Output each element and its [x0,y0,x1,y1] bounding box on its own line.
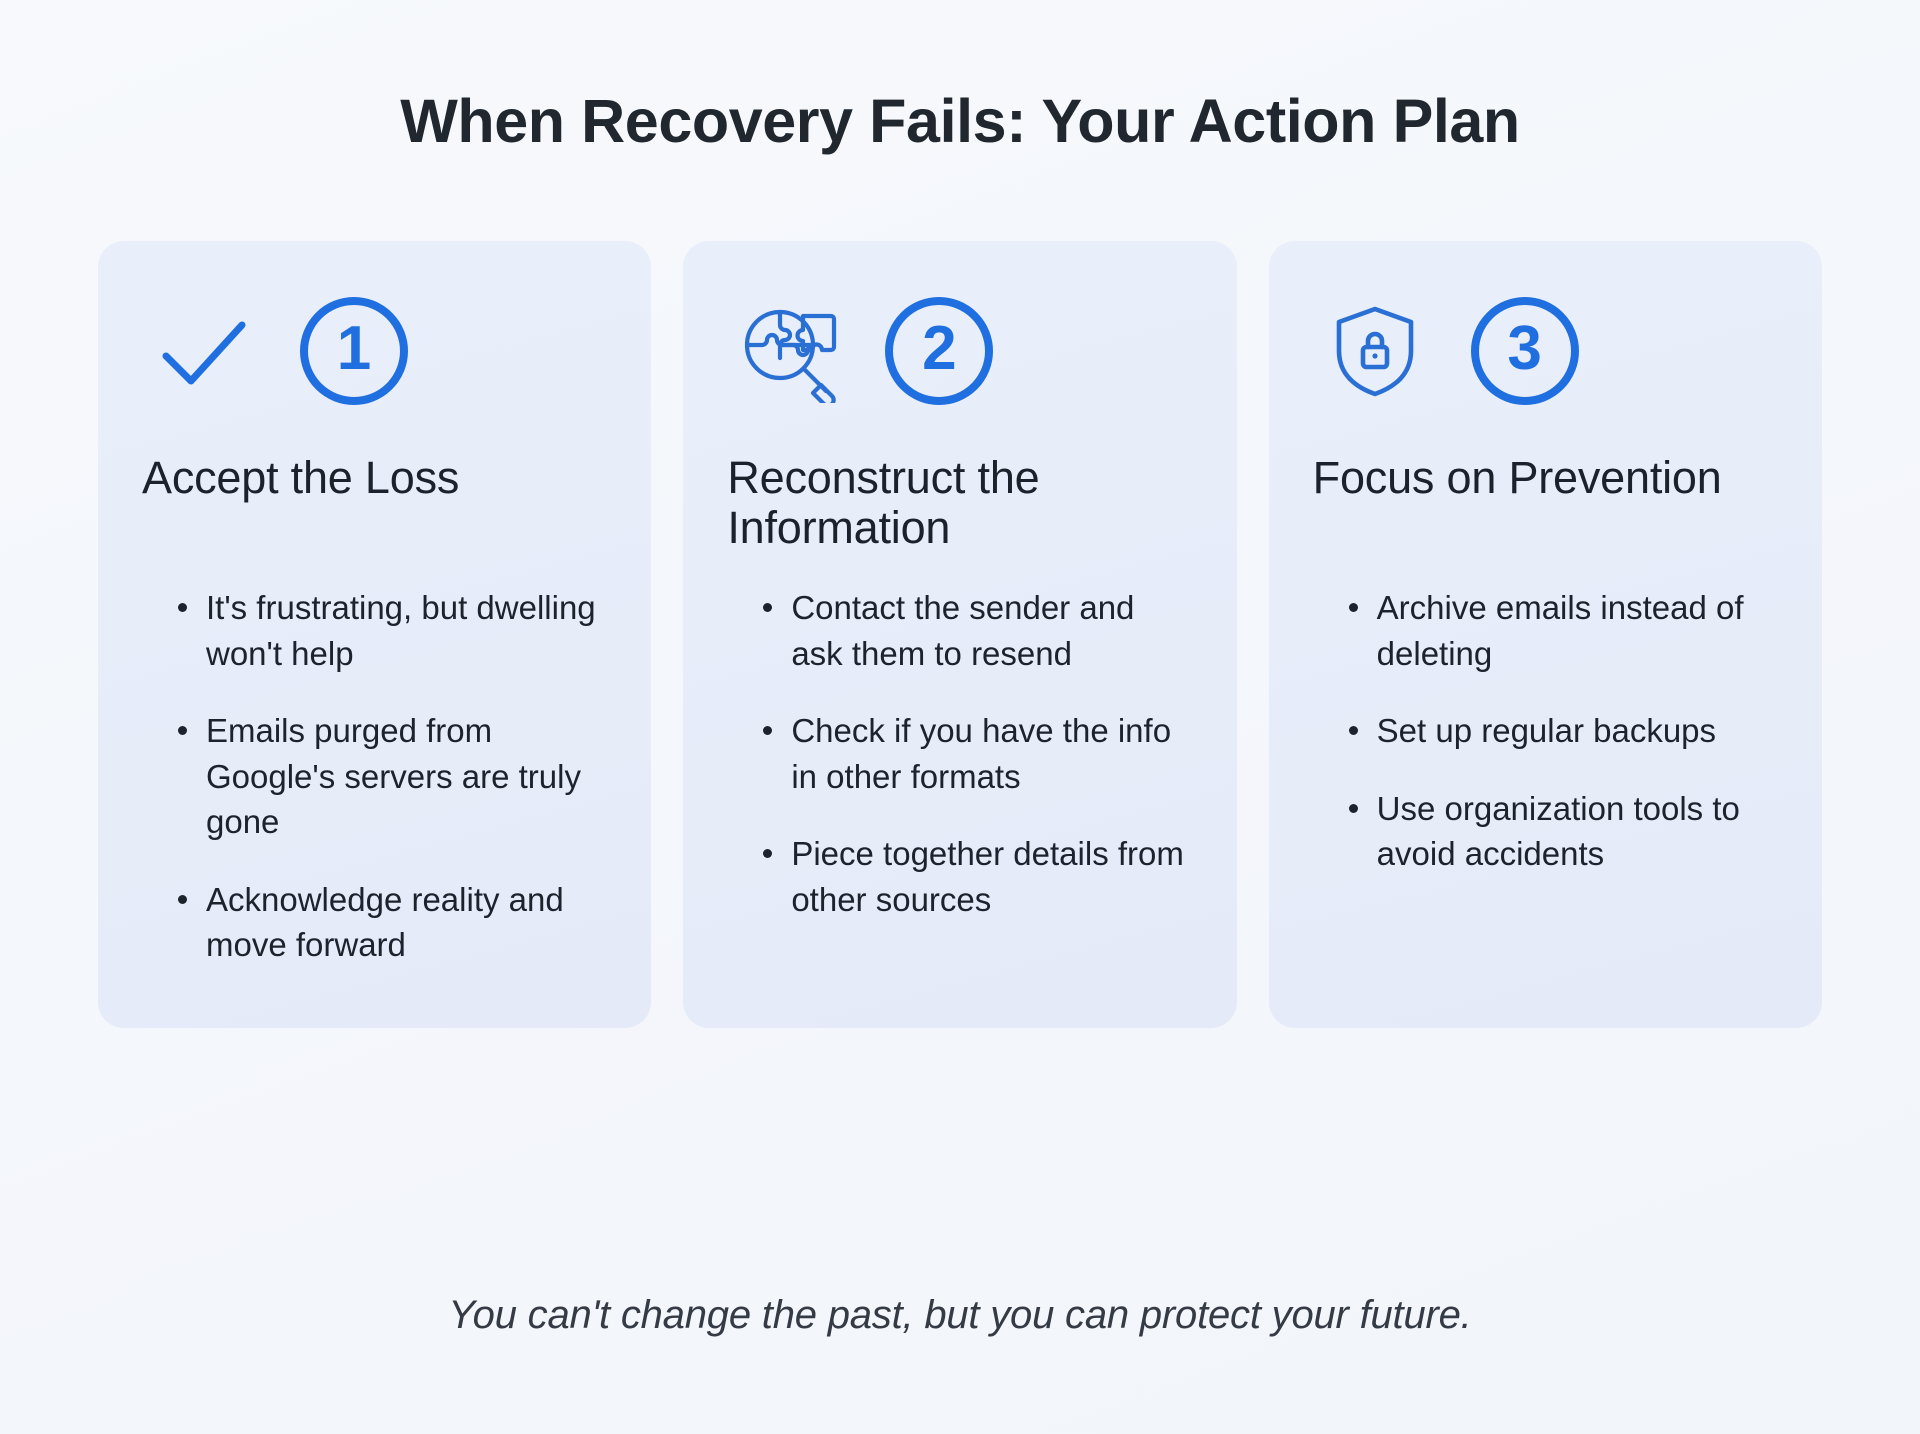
list-item: Emails purged from Google's servers are … [178,708,607,845]
list-item: Archive emails instead of deleting [1349,585,1778,676]
list-item: Acknowledge reality and move forward [178,877,607,968]
list-item: Set up regular backups [1349,708,1778,754]
step-number-badge: 1 [300,297,408,405]
card-bullet-list: It's frustrating, but dwelling won't hel… [142,585,607,968]
list-item: Piece together details from other source… [763,831,1192,922]
card-header: 1 [142,293,607,409]
card-bullet-list: Contact the sender and ask them to resen… [727,585,1192,922]
card-heading: Accept the Loss [142,453,607,555]
list-item: Use organization tools to avoid accident… [1349,786,1778,877]
footer-quote: You can't change the past, but you can p… [0,1293,1920,1338]
shield-lock-icon [1323,299,1427,403]
card-header: 2 [727,293,1192,409]
card-heading: Focus on Prevention [1313,453,1778,555]
step-number-badge: 2 [885,297,993,405]
infographic-page: When Recovery Fails: Your Action Plan 1 … [0,0,1920,1434]
step-number-badge: 3 [1471,297,1579,405]
puzzle-magnifier-icon [737,299,841,403]
card-focus-on-prevention: 3 Focus on Prevention Archive emails ins… [1269,241,1822,1028]
card-accept-the-loss: 1 Accept the Loss It's frustrating, but … [98,241,651,1028]
card-reconstruct-the-information: 2 Reconstruct the Information Contact th… [683,241,1236,1028]
list-item: It's frustrating, but dwelling won't hel… [178,585,607,676]
page-title: When Recovery Fails: Your Action Plan [0,0,1920,155]
card-header: 3 [1313,293,1778,409]
list-item: Check if you have the info in other form… [763,708,1192,799]
checkmark-icon [152,299,256,403]
card-bullet-list: Archive emails instead of deleting Set u… [1313,585,1778,877]
list-item: Contact the sender and ask them to resen… [763,585,1192,676]
cards-row: 1 Accept the Loss It's frustrating, but … [0,155,1920,1028]
card-heading: Reconstruct the Information [727,453,1192,555]
